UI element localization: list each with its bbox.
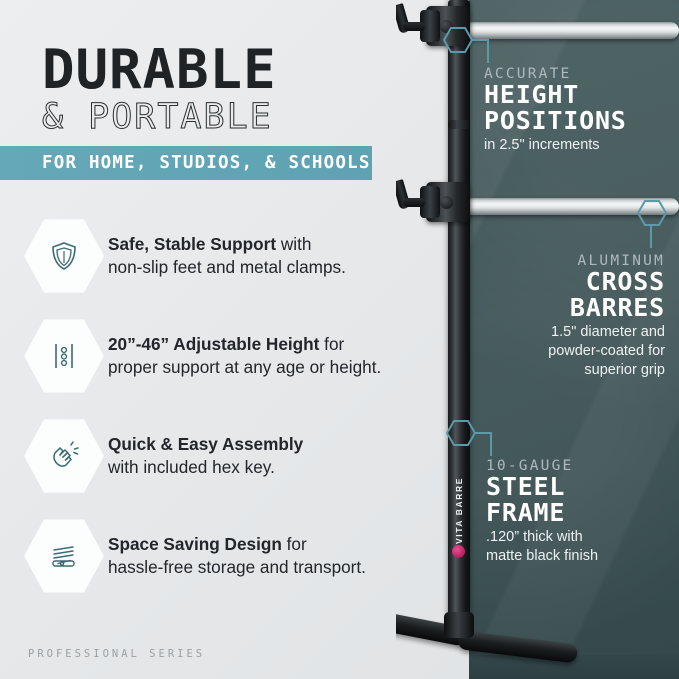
feature-second-line: proper support at any age or height.: [108, 357, 381, 377]
feature-second-line: non-slip feet and metal clamps.: [108, 257, 346, 277]
callout-title-line2: FRAME: [486, 500, 676, 526]
callout-cross-barres: ALUMINUM CROSS BARRES 1.5" diameter and …: [470, 253, 665, 380]
callout-subtitle-line1: 1.5" diameter and: [470, 323, 665, 342]
feature-text: Quick & Easy Assembly with included hex …: [104, 433, 396, 478]
feature-icon-hexagon: [24, 317, 104, 395]
connector-line-v1: [487, 39, 489, 63]
feature-rest-label: for: [319, 334, 344, 354]
brand-name-text: VITA BARRE: [454, 477, 464, 544]
clamp-knob-icon: [440, 196, 453, 209]
feature-item: Space Saving Design for hassle-free stor…: [24, 506, 396, 606]
callout-subtitle-line1: .120” thick with: [486, 528, 676, 547]
headline-primary: DURABLE: [42, 44, 277, 95]
callout-title-line2: POSITIONS: [484, 108, 674, 134]
callout-subtitle: in 2.5" increments: [484, 136, 674, 155]
feature-text: Space Saving Design for hassle-free stor…: [104, 533, 396, 578]
feature-list: Safe, Stable Support with non-slip feet …: [24, 206, 396, 606]
feature-item: Quick & Easy Assembly with included hex …: [24, 406, 396, 506]
shield-icon: [47, 239, 81, 273]
callout-title-line1: CROSS: [470, 269, 665, 295]
callout-hexagon-marker-height: [443, 27, 473, 53]
aluminum-cross-barre-top: [458, 22, 679, 39]
callout-title-line1: HEIGHT: [484, 82, 674, 108]
feature-bold-label: Safe, Stable Support: [108, 234, 276, 254]
infographic-root: VITA BARRE ACCURATE HEIGHT POSITIONS in …: [0, 0, 679, 679]
feature-item: Safe, Stable Support with non-slip feet …: [24, 206, 396, 306]
feature-item: 20”-46” Adjustable Height for proper sup…: [24, 306, 396, 406]
callout-title-line1: STEEL: [486, 474, 676, 500]
professional-series-label: PROFESSIONAL SERIES: [28, 648, 205, 660]
brand-logo-mark-icon: [452, 545, 465, 558]
callout-subtitle-line2: matte black finish: [486, 547, 676, 566]
audience-banner: FOR HOME, STUDIOS, & SCHOOLS: [0, 146, 372, 180]
height-clamp-middle: [414, 182, 470, 222]
connector-line-v2: [650, 224, 652, 248]
callout-height-positions: ACCURATE HEIGHT POSITIONS in 2.5" increm…: [484, 66, 674, 155]
feature-icon-hexagon: [24, 417, 104, 495]
callout-title-line2: BARRES: [470, 295, 665, 321]
callout-hexagon-marker-barres: [637, 200, 667, 226]
headline-block: DURABLE & PORTABLE: [42, 44, 277, 135]
feature-bold-label: 20”-46” Adjustable Height: [108, 334, 319, 354]
stacked-storage-icon: [46, 539, 82, 573]
clamp-lever-icon: [396, 4, 428, 34]
base-hub-joint: [444, 612, 474, 638]
headline-secondary: & PORTABLE: [42, 100, 277, 135]
audience-banner-label: FOR HOME, STUDIOS, & SCHOOLS: [42, 153, 371, 173]
feature-second-line: with included hex key.: [108, 457, 275, 477]
pole-joint-upper: [448, 120, 470, 129]
feature-bold-label: Space Saving Design: [108, 534, 282, 554]
feature-icon-hexagon: [24, 517, 104, 595]
adjustable-height-icon: [47, 339, 81, 373]
clapping-hands-icon: [46, 439, 82, 473]
callout-subtitle-line3: superior grip: [470, 361, 665, 380]
feature-rest-label: for: [282, 534, 307, 554]
feature-text: 20”-46” Adjustable Height for proper sup…: [104, 333, 396, 378]
callout-subtitle-line2: powder-coated for: [470, 342, 665, 361]
feature-text: Safe, Stable Support with non-slip feet …: [104, 233, 396, 278]
feature-bold-label: Quick & Easy Assembly: [108, 434, 303, 454]
feature-rest-label: with: [276, 234, 311, 254]
clamp-lever-icon: [396, 180, 428, 210]
callout-steel-frame: 10-GAUGE STEEL FRAME .120” thick with ma…: [486, 458, 676, 566]
callout-hexagon-marker-frame: [446, 420, 476, 446]
connector-line-v3: [490, 432, 492, 456]
feature-icon-hexagon: [24, 217, 104, 295]
feature-second-line: hassle-free storage and transport.: [108, 557, 366, 577]
